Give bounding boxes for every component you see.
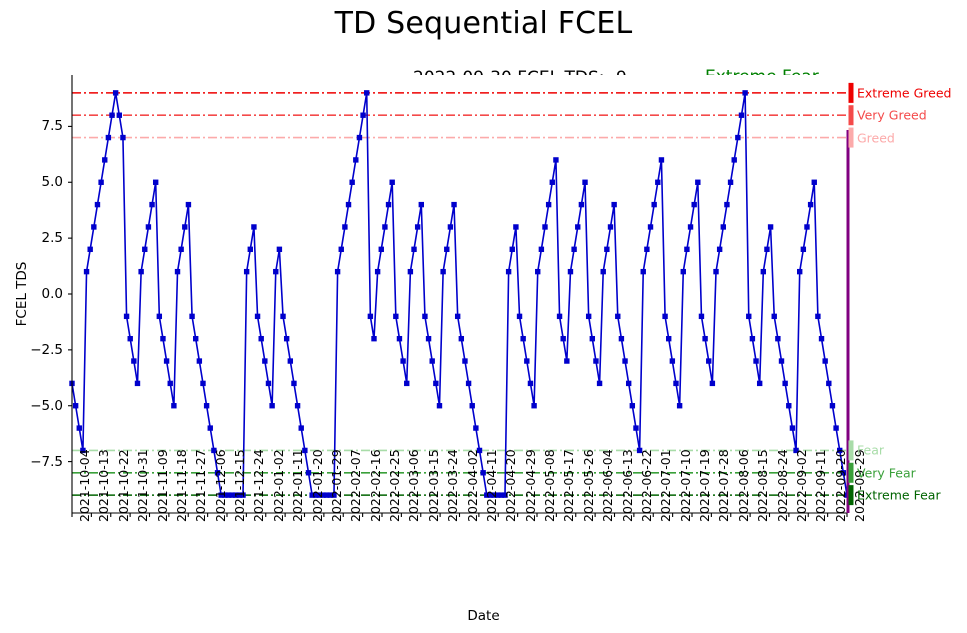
x-tick-label: 2021-11-18 (174, 449, 189, 522)
x-tick-label: 2021-12-15 (232, 449, 247, 522)
y-tick-label: −7.5 (0, 454, 63, 470)
x-tick-label: 2021-11-27 (193, 449, 208, 522)
x-tick-label: 2022-03-15 (426, 449, 441, 522)
y-tick-label: −5.0 (0, 398, 63, 414)
x-tick-label: 2022-06-13 (620, 449, 635, 522)
x-tick-label: 2022-06-04 (600, 449, 615, 522)
x-tick-label: 2022-07-19 (697, 449, 712, 522)
x-tick-label: 2022-04-02 (465, 449, 480, 522)
x-tick-label: 2022-08-06 (736, 449, 751, 522)
x-tick-label: 2021-12-06 (213, 449, 228, 522)
x-tick-label: 2022-02-16 (368, 449, 383, 522)
x-tick-label: 2021-10-13 (96, 449, 111, 522)
x-tick-label: 2022-04-11 (484, 449, 499, 522)
y-tick-label: 0.0 (0, 286, 63, 302)
x-tick-label: 2022-07-01 (658, 449, 673, 522)
x-tick-label: 2022-07-28 (716, 449, 731, 522)
x-tick-label: 2022-05-17 (561, 449, 576, 522)
x-tick-label: 2022-03-06 (406, 449, 421, 522)
x-tick-label: 2022-01-20 (310, 449, 325, 522)
y-tick-label: 7.5 (0, 118, 63, 134)
zone-label: Very Greed (857, 108, 927, 123)
plot-area (0, 0, 967, 633)
x-tick-label: 2022-09-29 (852, 449, 867, 522)
x-tick-label: 2021-10-22 (116, 449, 131, 522)
x-tick-label: 2022-09-11 (813, 449, 828, 522)
zone-label: Very Fear (857, 465, 916, 480)
zone-label: Extreme Greed (857, 85, 951, 100)
zone-label: Greed (857, 130, 895, 145)
x-tick-label: 2022-02-25 (387, 449, 402, 522)
x-tick-label: 2022-05-26 (581, 449, 596, 522)
zone-label: Fear (857, 443, 884, 458)
x-tick-label: 2022-06-22 (639, 449, 654, 522)
x-tick-label: 2022-09-20 (833, 449, 848, 522)
x-tick-label: 2022-01-29 (329, 449, 344, 522)
x-tick-label: 2022-08-24 (775, 449, 790, 522)
x-tick-label: 2021-10-31 (135, 449, 150, 522)
x-tick-label: 2021-10-04 (77, 449, 92, 522)
x-tick-label: 2022-09-02 (794, 449, 809, 522)
x-tick-label: 2021-11-09 (155, 449, 170, 522)
y-tick-label: −2.5 (0, 342, 63, 358)
x-tick-label: 2022-05-08 (542, 449, 557, 522)
y-tick-label: 2.5 (0, 230, 63, 246)
x-tick-label: 2022-04-29 (523, 449, 538, 522)
x-tick-label: 2022-03-24 (445, 449, 460, 522)
x-tick-label: 2021-12-24 (251, 449, 266, 522)
x-tick-label: 2022-02-07 (348, 449, 363, 522)
zone-label: Extreme Fear (857, 488, 941, 503)
chart-container: TD Sequential FCEL W3Data.io Chart Web3 … (0, 0, 967, 633)
x-tick-label: 2022-08-15 (755, 449, 770, 522)
x-tick-label: 2022-07-10 (678, 449, 693, 522)
x-tick-label: 2022-04-20 (503, 449, 518, 522)
x-tick-label: 2022-01-02 (271, 449, 286, 522)
x-tick-label: 2022-01-11 (290, 449, 305, 522)
y-tick-label: 5.0 (0, 174, 63, 190)
